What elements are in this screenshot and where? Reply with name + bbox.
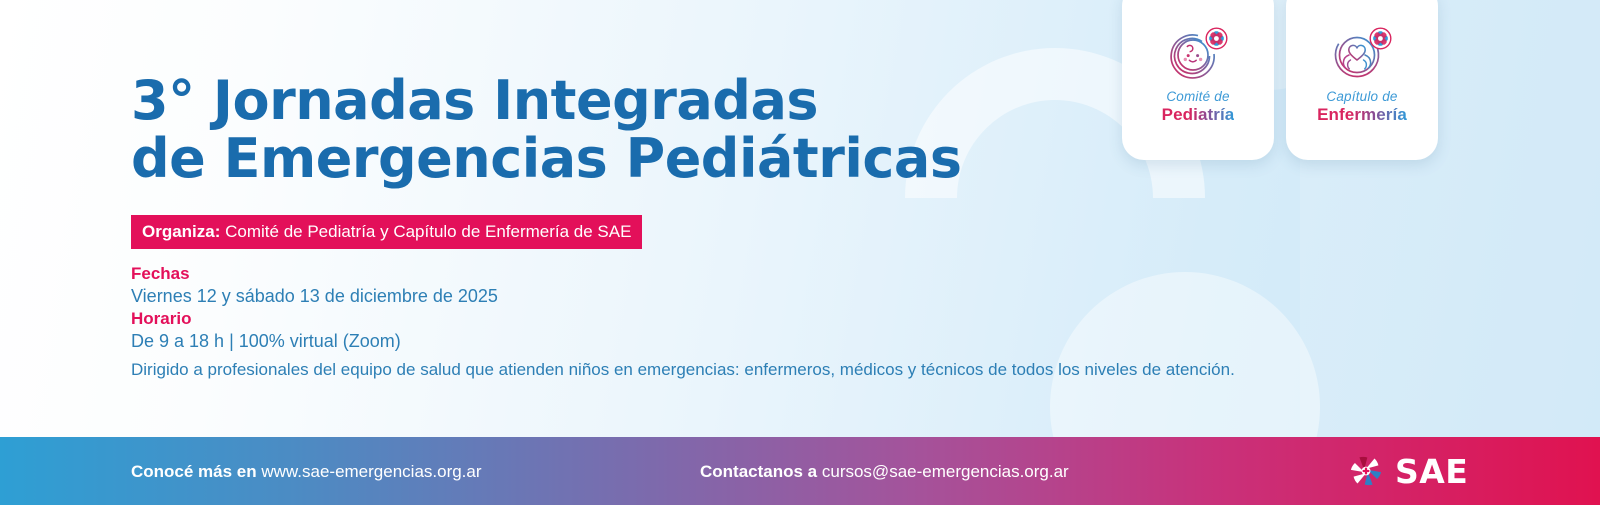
organizer-value: Comité de Pediatría y Capítulo de Enferm… — [220, 222, 631, 241]
organizer-badge: Organiza: Comité de Pediatría y Capítulo… — [131, 215, 642, 249]
contact-email[interactable]: cursos@sae-emergencias.org.ar — [817, 462, 1069, 481]
schedule-value: De 9 a 18 h | 100% virtual (Zoom) — [131, 330, 498, 353]
hands-heart-icon — [1325, 24, 1399, 80]
dates-value: Viernes 12 y sábado 13 de diciembre de 2… — [131, 285, 498, 308]
logo-card-title: Enfermería — [1317, 105, 1407, 125]
logo-card-title: Pediatría — [1162, 105, 1235, 125]
contact-line[interactable]: Contactanos a cursos@sae-emergencias.org… — [700, 462, 1069, 482]
event-banner: 3° Jornadas Integradas de Emergencias Pe… — [0, 0, 1600, 505]
contact-label: Contactanos a — [700, 462, 817, 481]
schedule-label: Horario — [131, 308, 498, 330]
logo-card-pediatria[interactable]: Comité de Pediatría — [1122, 0, 1274, 160]
website-label: Conocé más en — [131, 462, 257, 481]
sae-wordmark: SAE — [1395, 455, 1468, 488]
event-meta: Fechas Viernes 12 y sábado 13 de diciemb… — [131, 263, 498, 353]
sae-pinwheel-icon — [1348, 453, 1384, 489]
website-url[interactable]: www.sae-emergencias.org.ar — [257, 462, 482, 481]
logo-card-subtitle: Comité de — [1166, 89, 1229, 104]
organizer-label: Organiza: — [142, 222, 220, 241]
audience-description: Dirigido a profesionales del equipo de s… — [131, 359, 1235, 381]
sae-logo[interactable]: SAE — [1348, 453, 1468, 489]
dates-label: Fechas — [131, 263, 498, 285]
page-title: 3° Jornadas Integradas de Emergencias Pe… — [131, 72, 961, 188]
logo-card-subtitle: Capítulo de — [1326, 89, 1397, 104]
logo-card-group: Comité de Pediatría — [1122, 0, 1438, 160]
baby-face-icon — [1161, 24, 1235, 80]
website-line[interactable]: Conocé más en www.sae-emergencias.org.ar — [131, 462, 482, 482]
logo-card-enfermeria[interactable]: Capítulo de Enfermería — [1286, 0, 1438, 160]
footer-bar: Conocé más en www.sae-emergencias.org.ar… — [0, 437, 1600, 505]
